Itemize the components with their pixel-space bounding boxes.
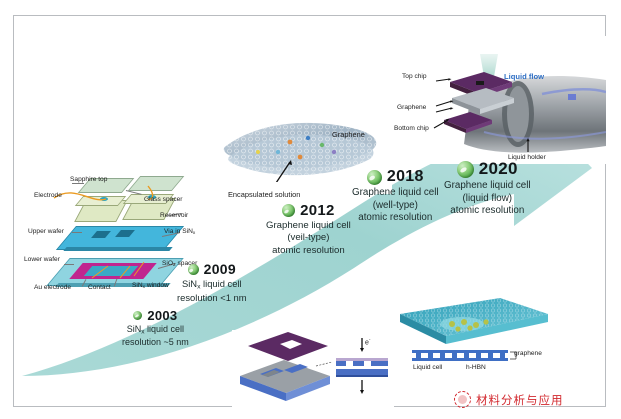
milestone-2018-year: 2018 <box>387 168 424 186</box>
label-contact: Contact <box>88 284 111 291</box>
milestone-2003-line2: resolution ~5 nm <box>122 337 189 349</box>
m0-l1a: SiN <box>127 324 142 334</box>
label-via-text: Via in SiN <box>164 228 193 235</box>
liquid-holder-icon <box>392 36 606 164</box>
bead-icon-2020 <box>457 161 474 178</box>
label-sapphire-top: Sapphire top <box>70 176 107 183</box>
watermark-text: 材料分析与应用 <box>476 392 564 408</box>
m1-l1a: SiN <box>182 278 197 289</box>
label-au-electrode: Au electrode <box>34 284 71 291</box>
label-sinwin-text: SiN <box>132 282 143 289</box>
label-electron-beam: e- <box>365 338 371 346</box>
label-via-sub: x <box>193 231 195 236</box>
milestone-2018-line3: atomic resolution <box>352 212 439 225</box>
label-hbn-graphene: graphene <box>514 350 542 357</box>
leader-lower-wafer <box>64 264 74 265</box>
label-electrode: Electrode <box>34 192 62 199</box>
milestone-2009-line1: SiNx liquid cell <box>177 278 247 292</box>
m1-l1b: liquid cell <box>200 278 241 289</box>
bead-icon-2018 <box>367 170 382 185</box>
milestone-2020-year: 2020 <box>479 159 518 179</box>
label-upper-wafer: Upper wafer <box>28 228 64 235</box>
label-via-in-sinx: Via in SiNx <box>164 228 195 236</box>
figure-stage: Sapphire top Electrode Glass spacer Rese… <box>14 16 605 406</box>
milestone-2012-line3: atomic resolution <box>266 245 351 257</box>
label-liquid-flow: Liquid flow <box>504 72 544 81</box>
label-top-chip: Top chip <box>402 73 427 80</box>
milestone-2009-head: 2009 <box>177 261 247 277</box>
label-sinx-window: SiNx window <box>132 282 169 290</box>
label-hbn: h-HBN <box>466 364 486 371</box>
upper-wafer-edge <box>63 247 172 251</box>
label-encapsulated-solution: Encapsulated solution <box>228 190 300 199</box>
liquid-holder-panel <box>392 36 606 164</box>
milestone-2003-head: 2003 <box>122 308 189 323</box>
label-graphene-sheet: Graphene <box>332 130 365 139</box>
label-sinwin-suffix: window <box>145 282 169 289</box>
milestone-2012-line2: (veil-type) <box>266 232 351 244</box>
label-bottom-chip: Bottom chip <box>394 125 429 132</box>
milestone-2018-line1: Graphene liquid cell <box>352 187 439 200</box>
milestone-2020: 2020 Graphene liquid cell (liquid flow) … <box>444 159 531 218</box>
milestone-2009-year: 2009 <box>204 261 236 277</box>
milestone-2003-line1: SiNx liquid cell <box>122 324 189 337</box>
camera-logo-icon <box>454 391 471 408</box>
milestone-2012-body: Graphene liquid cell (veil-type) atomic … <box>266 220 351 257</box>
label-glass-spacer: Glass spacer <box>144 196 182 203</box>
figure-frame: Sapphire top Electrode Glass spacer Rese… <box>13 15 606 407</box>
milestone-2020-line2: (liquid flow) <box>444 193 531 206</box>
milestone-2012-line1: Graphene liquid cell <box>266 220 351 232</box>
label-reservoir: Reservoir <box>160 212 188 219</box>
label-sio2-text: SiO <box>162 260 173 267</box>
milestone-2003-body: SiNx liquid cell resolution ~5 nm <box>122 324 189 348</box>
milestone-2018-line2: (well-type) <box>352 200 439 213</box>
milestone-2020-body: Graphene liquid cell (liquid flow) atomi… <box>444 180 531 218</box>
milestone-2012-year: 2012 <box>300 202 335 219</box>
bead-icon-2009 <box>188 264 199 275</box>
watermark: 材料分析与应用 <box>454 391 564 408</box>
label-graphene-holder: Graphene <box>397 104 426 111</box>
milestone-2018: 2018 Graphene liquid cell (well-type) at… <box>352 168 439 225</box>
label-lower-wafer: Lower wafer <box>24 256 60 263</box>
milestone-2003: 2003 SiNx liquid cell resolution ~5 nm <box>122 308 189 348</box>
milestone-2018-head: 2018 <box>352 168 439 186</box>
bead-icon-2003 <box>133 311 142 320</box>
milestone-2009: 2009 SiNx liquid cell resolution <1 nm <box>177 261 247 304</box>
milestone-2020-line1: Graphene liquid cell <box>444 180 531 193</box>
milestone-2009-line2: resolution <1 nm <box>177 292 247 304</box>
milestone-2018-body: Graphene liquid cell (well-type) atomic … <box>352 187 439 225</box>
bead-icon-2012 <box>282 204 295 217</box>
leader-sapphire <box>72 183 84 184</box>
milestone-2012: 2012 Graphene liquid cell (veil-type) at… <box>266 202 351 257</box>
milestone-2020-line3: atomic resolution <box>444 205 531 218</box>
milestone-2012-head: 2012 <box>266 202 351 219</box>
leader-upper-wafer <box>72 232 82 233</box>
milestone-2009-body: SiNx liquid cell resolution <1 nm <box>177 278 247 304</box>
milestone-2003-year: 2003 <box>147 308 177 323</box>
m0-l1b: liquid cell <box>145 324 185 334</box>
milestone-2020-head: 2020 <box>444 159 531 179</box>
label-liquid-cell: Liquid cell <box>413 364 442 371</box>
